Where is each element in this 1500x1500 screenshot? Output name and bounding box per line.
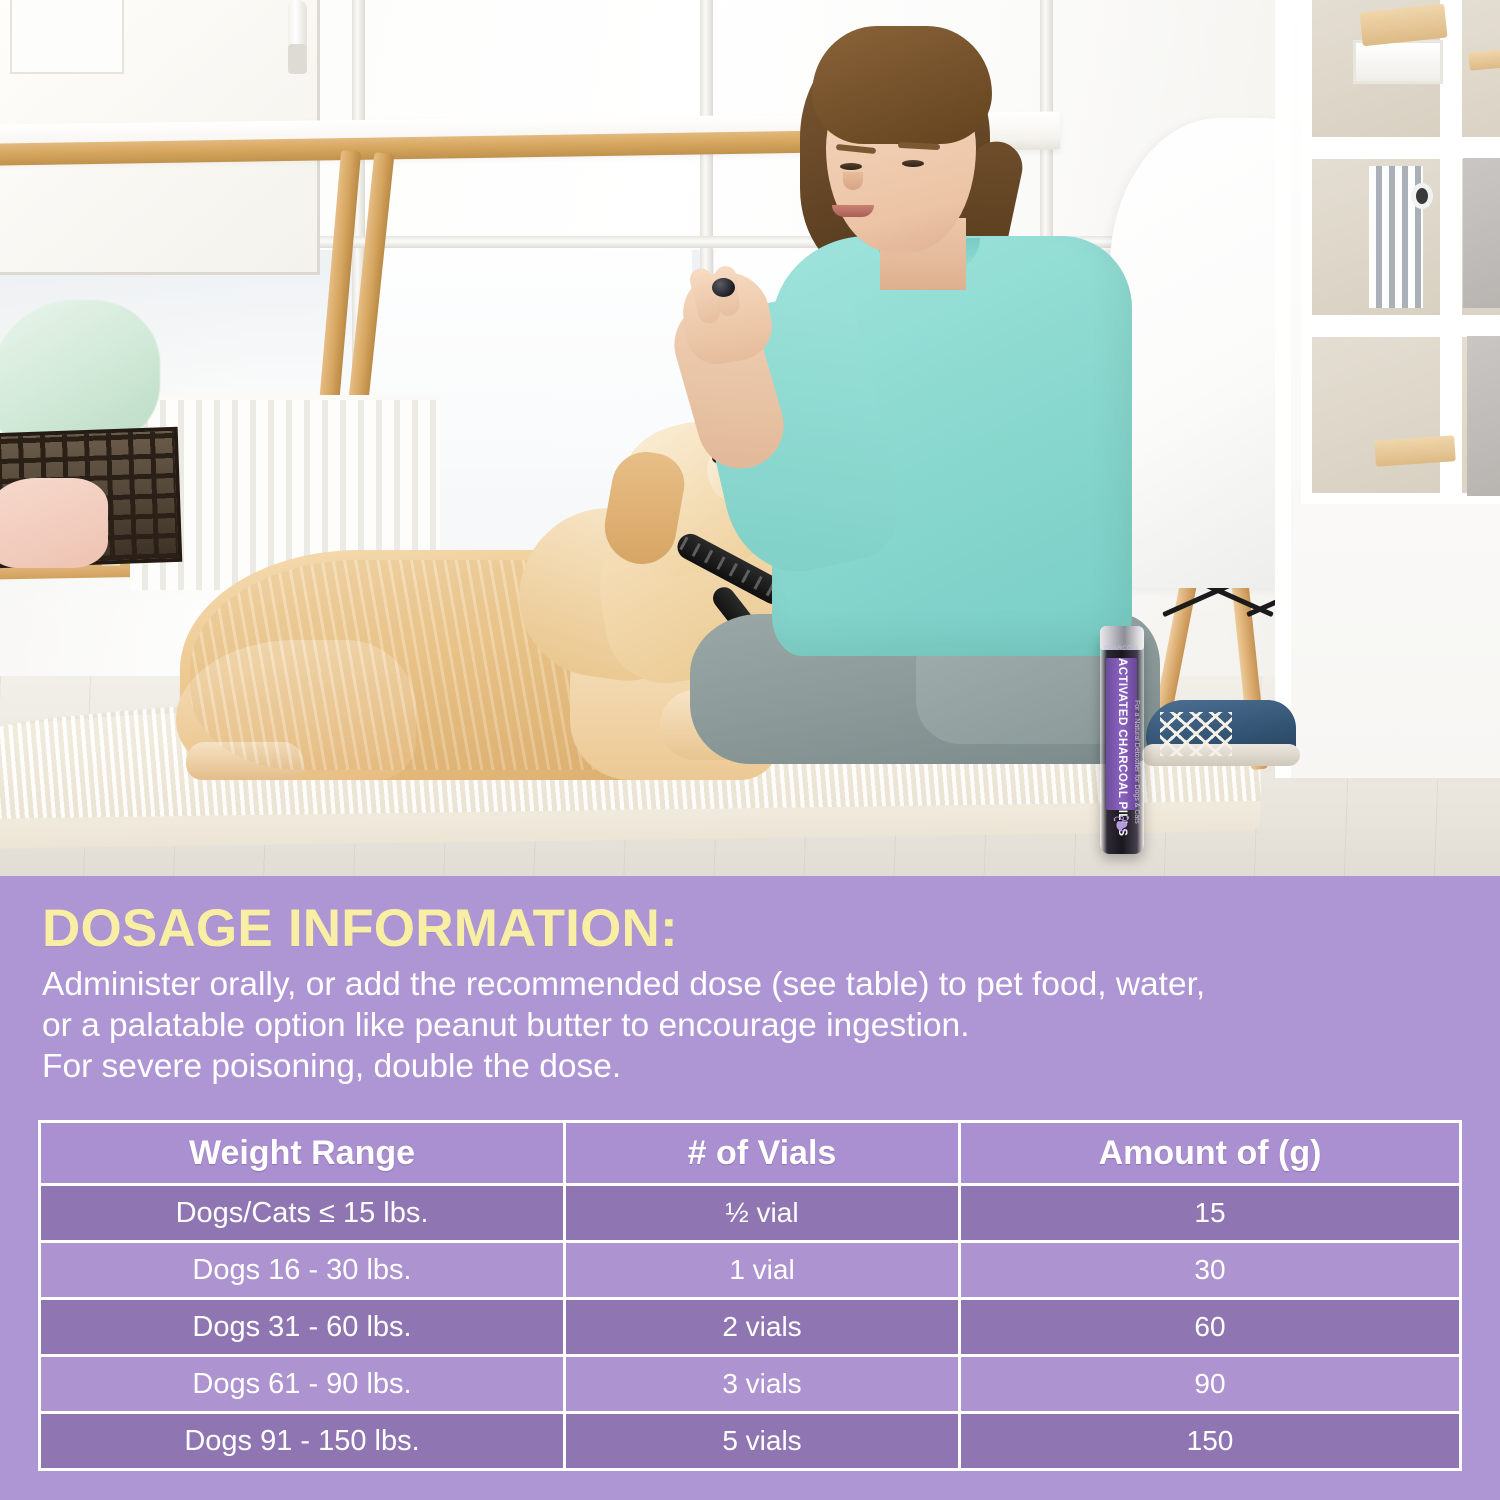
charcoal-pill bbox=[712, 278, 735, 297]
white-storage-crate bbox=[1353, 40, 1443, 84]
shelf-cube bbox=[1451, 0, 1500, 148]
girl-eye bbox=[840, 163, 862, 170]
sneaker-laces bbox=[1160, 712, 1232, 756]
girl-mouth bbox=[832, 205, 874, 217]
cube-shelf-unit bbox=[1275, 0, 1500, 778]
table-row: Dogs 91 - 150 lbs. 5 vials 150 bbox=[38, 1414, 1462, 1471]
cell-weight-range: Dogs 31 - 60 lbs. bbox=[38, 1300, 566, 1357]
cell-amount: 150 bbox=[961, 1414, 1462, 1471]
cell-weight-range: Dogs 61 - 90 lbs. bbox=[38, 1357, 566, 1414]
cell-amount: 60 bbox=[961, 1300, 1462, 1357]
column-header-weight-range: Weight Range bbox=[38, 1120, 566, 1186]
dog-back-paw bbox=[186, 742, 304, 780]
cell-amount: 15 bbox=[961, 1186, 1462, 1243]
cell-vials: ½ vial bbox=[566, 1186, 961, 1243]
column-header-amount: Amount of (g) bbox=[961, 1120, 1462, 1186]
cell-weight-range: Dogs 91 - 150 lbs. bbox=[38, 1414, 566, 1471]
bin-grommet-hole bbox=[1411, 183, 1433, 209]
dosage-panel: DOSAGE INFORMATION: Administer orally, o… bbox=[0, 876, 1500, 1500]
wood-boards-lower bbox=[1374, 435, 1456, 467]
page-title: DOSAGE INFORMATION: bbox=[42, 898, 678, 959]
cell-vials: 5 vials bbox=[566, 1414, 961, 1471]
cell-amount: 30 bbox=[961, 1243, 1462, 1300]
grey-storage-bin bbox=[1467, 336, 1500, 496]
dosage-description: Administer orally, or add the recommende… bbox=[42, 964, 1462, 1087]
shelf-cube bbox=[1301, 326, 1451, 504]
product-infographic: CHARCOAL ACTIVATED CHARCOAL PILLS For a … bbox=[0, 0, 1500, 1500]
cell-vials: 3 vials bbox=[566, 1357, 961, 1414]
paw-icon: ❦ bbox=[1108, 808, 1136, 840]
vial-sub-text: For a Natural Detoxifier for Dogs & Cats bbox=[1128, 700, 1144, 820]
dosage-table: Weight Range # of Vials Amount of (g) Do… bbox=[38, 1120, 1462, 1471]
table-header-row: Weight Range # of Vials Amount of (g) bbox=[38, 1120, 1462, 1186]
cell-weight-range: Dogs 16 - 30 lbs. bbox=[38, 1243, 566, 1300]
folded-towel bbox=[0, 300, 160, 440]
cell-vials: 2 vials bbox=[566, 1300, 961, 1357]
column-header-vials: # of Vials bbox=[566, 1120, 961, 1186]
window-handle-base bbox=[288, 44, 307, 74]
table-row: Dogs/Cats ≤ 15 lbs. ½ vial 15 bbox=[38, 1186, 1462, 1243]
lifestyle-photo: CHARCOAL ACTIVATED CHARCOAL PILLS For a … bbox=[0, 0, 1500, 876]
cell-amount: 90 bbox=[961, 1357, 1462, 1414]
cell-vials: 1 vial bbox=[566, 1243, 961, 1300]
dosage-line-2: or a palatable option like peanut butter… bbox=[42, 1005, 1462, 1046]
table-row: Dogs 31 - 60 lbs. 2 vials 60 bbox=[38, 1300, 1462, 1357]
table-row: Dogs 16 - 30 lbs. 1 vial 30 bbox=[38, 1243, 1462, 1300]
girl-eye bbox=[902, 160, 924, 167]
towel-pink bbox=[0, 478, 108, 568]
table-row: Dogs 61 - 90 lbs. 3 vials 90 bbox=[38, 1357, 1462, 1414]
cell-weight-range: Dogs/Cats ≤ 15 lbs. bbox=[38, 1186, 566, 1243]
girl-hair-front bbox=[812, 26, 992, 144]
vial-brand-text: CHARCOAL bbox=[1104, 646, 1140, 652]
dosage-line-3: For severe poisoning, double the dose. bbox=[42, 1046, 1462, 1087]
grey-storage-bin bbox=[1463, 158, 1500, 308]
dosage-line-1: Administer orally, or add the recommende… bbox=[42, 964, 1462, 1005]
